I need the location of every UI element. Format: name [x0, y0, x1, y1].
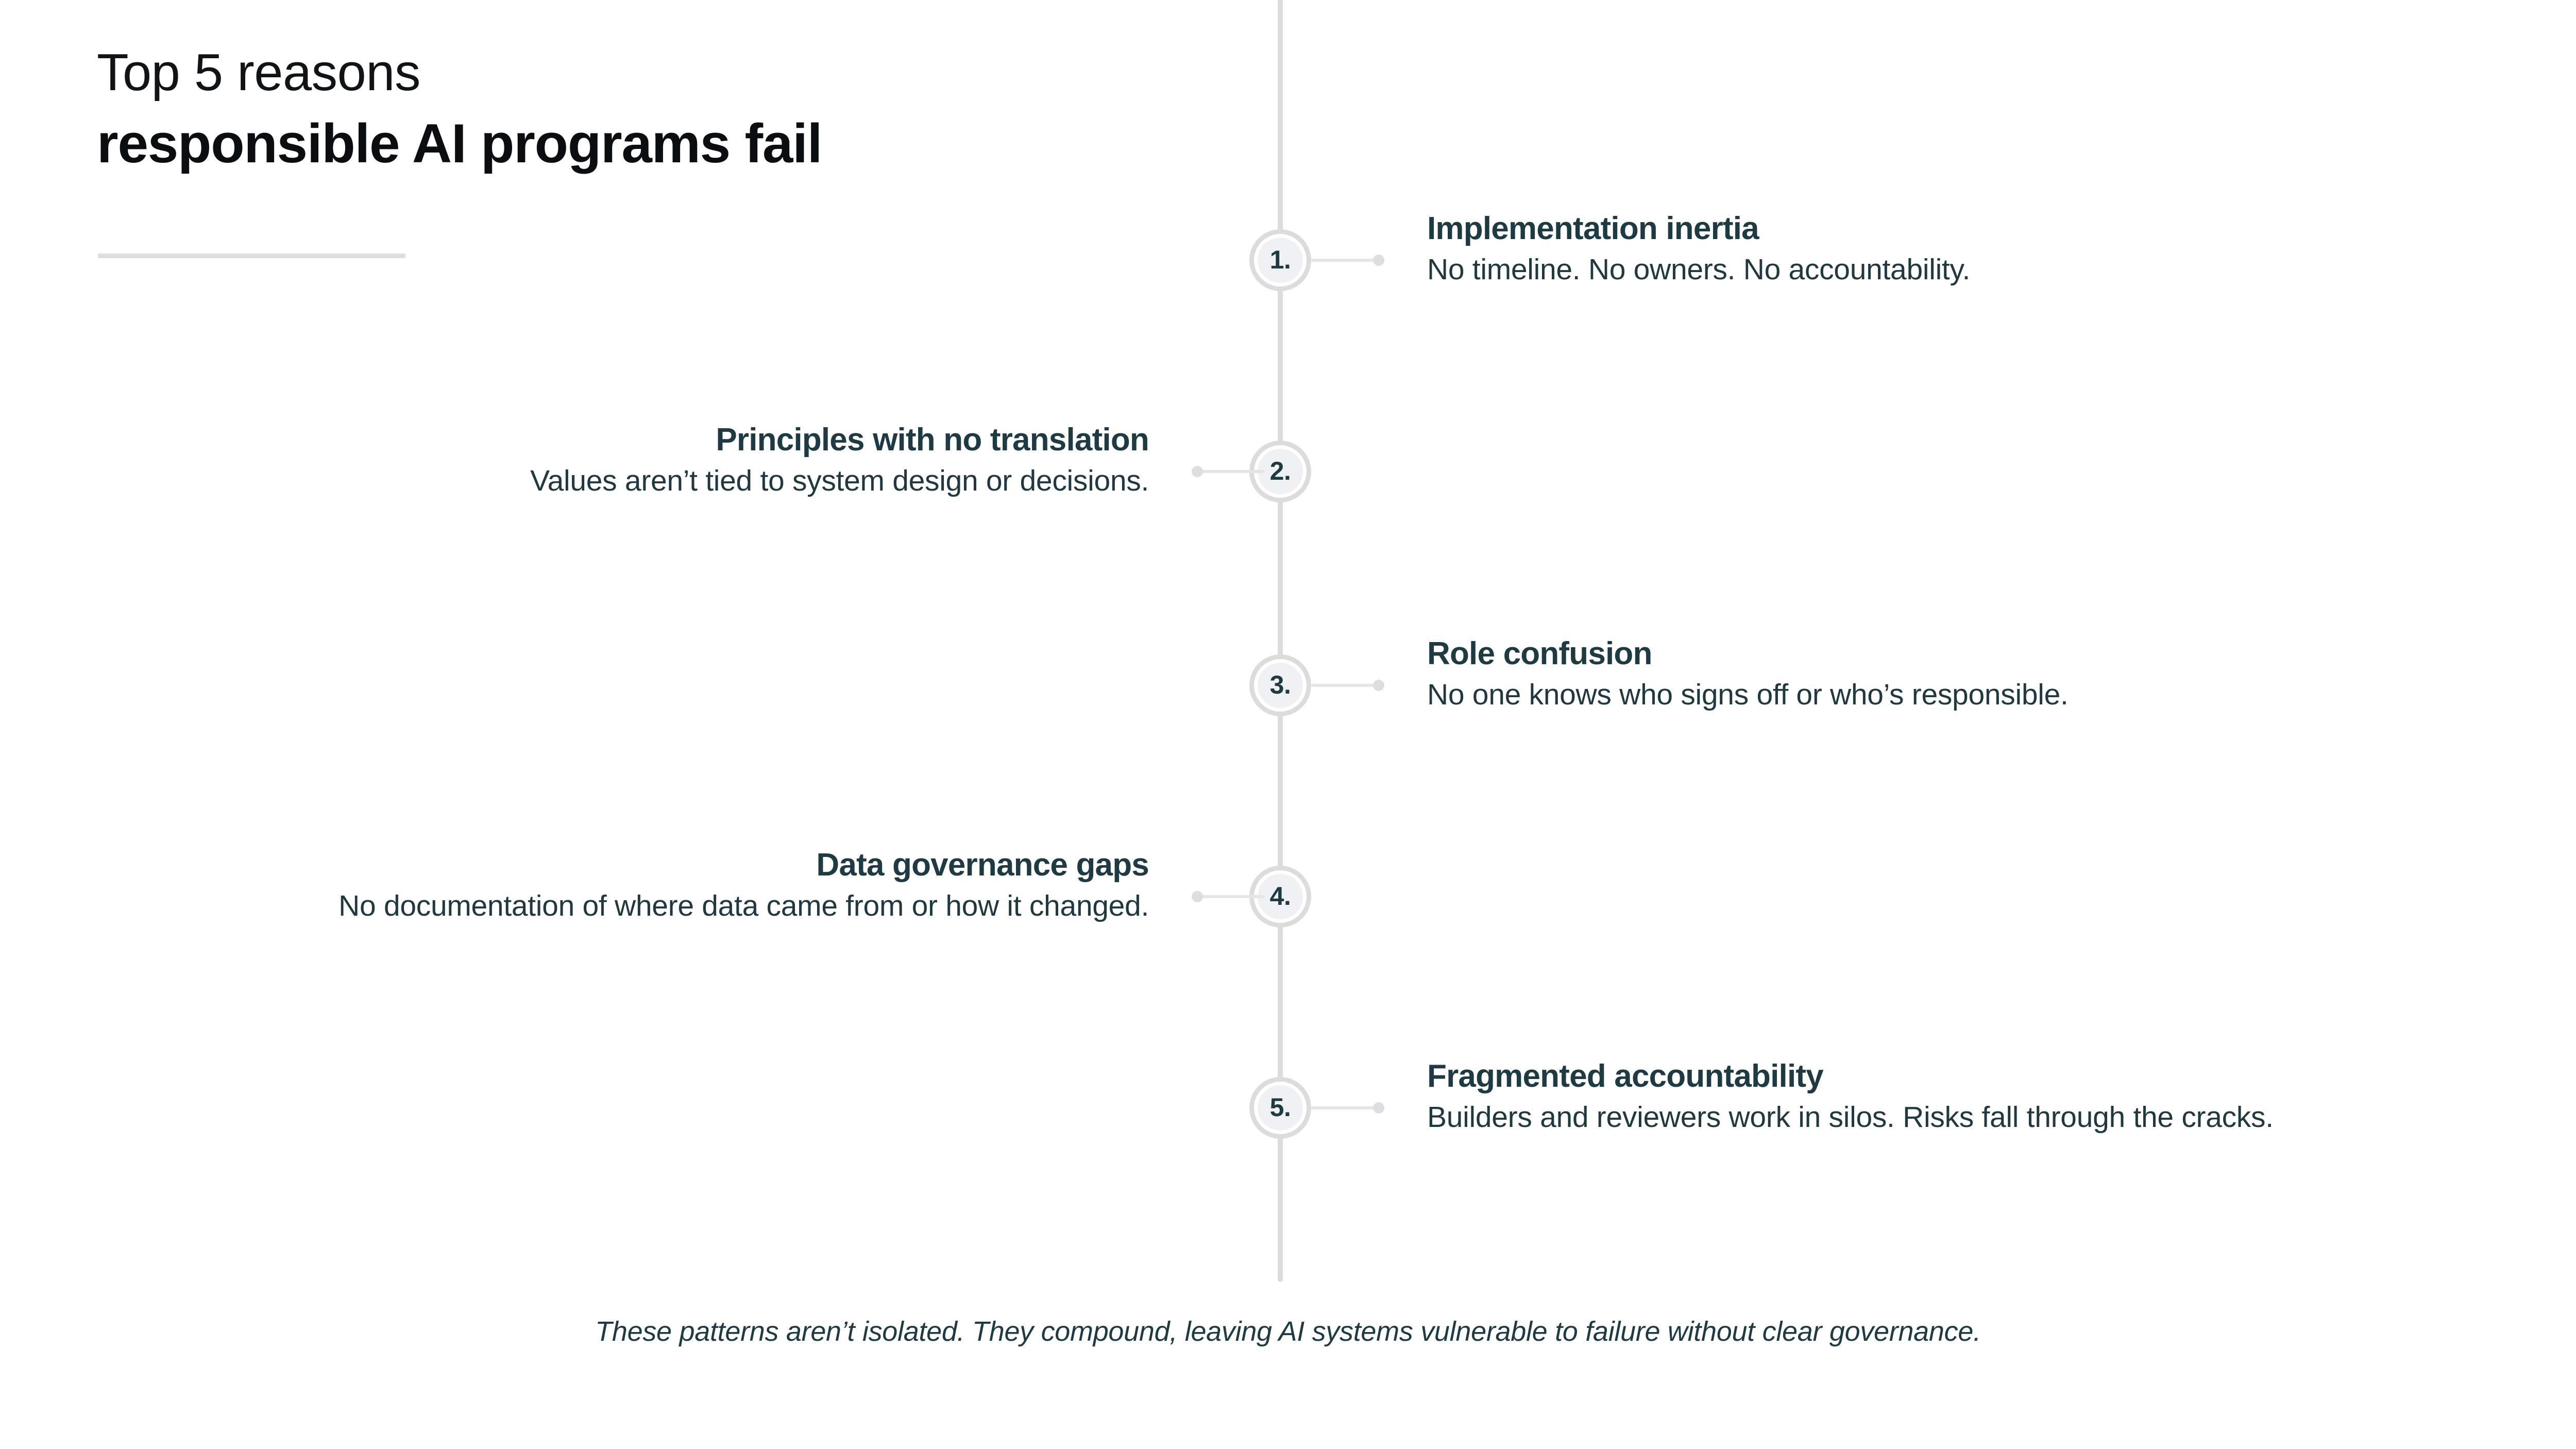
node-number-label: 5. — [1270, 1094, 1291, 1120]
footer-note: These patterns aren’t isolated. They com… — [0, 1315, 2576, 1349]
connector-dot — [1192, 891, 1203, 902]
node-number-label: 2. — [1270, 458, 1291, 484]
connector-dot — [1373, 680, 1384, 691]
title-divider-rule — [98, 254, 405, 258]
node-inner-disc: 3. — [1258, 663, 1303, 708]
item-title: Role confusion — [1427, 636, 2293, 671]
connector-stem — [1311, 259, 1374, 262]
title-line-secondary: responsible AI programs fail — [97, 110, 1179, 177]
timeline-node-1[interactable]: 1. — [1249, 229, 1311, 291]
timeline-content-4: Data governance gaps No documentation of… — [294, 847, 1149, 925]
connector-stem — [1202, 470, 1265, 473]
page-title: Top 5 reasons responsible AI programs fa… — [97, 42, 1179, 177]
item-title: Implementation inertia — [1427, 211, 2396, 246]
item-description: Builders and reviewers work in silos. Ri… — [1427, 1099, 2334, 1136]
item-description: No timeline. No owners. No accountabilit… — [1427, 251, 2396, 289]
node-number-label: 3. — [1270, 672, 1291, 698]
node-inner-disc: 1. — [1258, 238, 1303, 283]
title-line-primary: Top 5 reasons — [97, 42, 1179, 104]
item-description: No one knows who signs off or who’s resp… — [1427, 677, 2293, 714]
item-description: Values aren’t tied to system design or d… — [170, 463, 1149, 500]
timeline-content-1: Implementation inertia No timeline. No o… — [1427, 211, 2396, 289]
connector-dot — [1373, 1102, 1384, 1114]
connector-stem — [1311, 684, 1374, 687]
timeline-content-3: Role confusion No one knows who signs of… — [1427, 636, 2293, 714]
node-number-label: 1. — [1270, 247, 1291, 273]
node-inner-disc: 5. — [1258, 1085, 1303, 1131]
timeline-node-5[interactable]: 5. — [1249, 1077, 1311, 1139]
infographic-canvas: Top 5 reasons responsible AI programs fa… — [0, 0, 2576, 1449]
connector-stem — [1202, 895, 1265, 898]
timeline-node-3[interactable]: 3. — [1249, 654, 1311, 716]
item-title: Principles with no translation — [170, 422, 1149, 458]
node-number-label: 4. — [1270, 883, 1291, 909]
timeline-content-2: Principles with no translation Values ar… — [170, 422, 1149, 500]
connector-dot — [1373, 255, 1384, 266]
item-description: No documentation of where data came from… — [294, 888, 1149, 925]
timeline-content-5: Fragmented accountability Builders and r… — [1427, 1058, 2334, 1136]
item-title: Fragmented accountability — [1427, 1058, 2334, 1094]
connector-stem — [1311, 1106, 1374, 1109]
item-title: Data governance gaps — [294, 847, 1149, 883]
connector-dot — [1192, 466, 1203, 477]
